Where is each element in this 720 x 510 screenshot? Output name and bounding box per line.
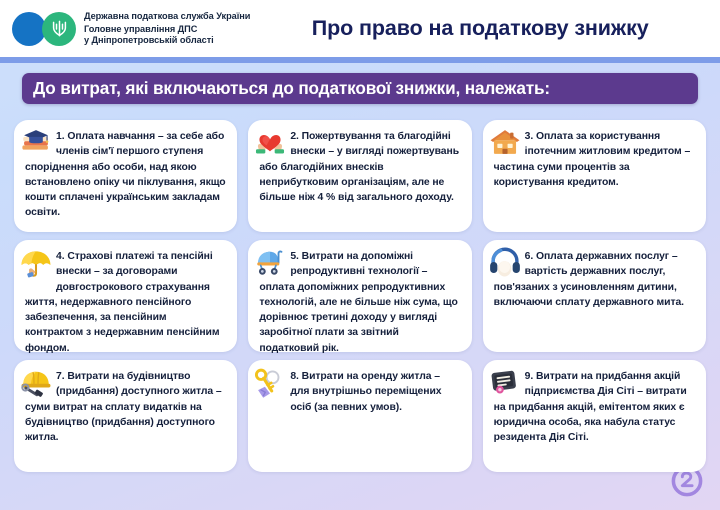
- agency-logo-block: Державна податкова служба України Головн…: [12, 10, 250, 48]
- document-card-icon: [488, 365, 522, 399]
- page-title: Про право на податкову знижку: [250, 16, 706, 41]
- expense-card: 3. Оплата за користування іпотечним житл…: [483, 120, 706, 232]
- expense-card-text: 1. Оплата навчання – за себе або членів …: [25, 129, 226, 221]
- expense-card-text: 2. Пожертвування та благодійні внески – …: [259, 129, 460, 205]
- expense-card-text: 3. Оплата за користування іпотечним житл…: [494, 129, 695, 190]
- expense-card-text: 9. Витрати на придбання акцій підприємст…: [494, 369, 695, 445]
- expense-card: 6. Оплата державних послуг – вартість де…: [483, 240, 706, 352]
- umbrella-icon: [19, 245, 53, 285]
- graduation-cap-books-icon: [19, 125, 53, 159]
- subtitle-text: До витрат, які включаються до податкової…: [33, 79, 688, 97]
- expense-card-text: 8. Витрати на оренду житла – для внутріш…: [259, 369, 460, 415]
- infographic-poster: Державна податкова служба України Головн…: [0, 0, 720, 510]
- expense-card-text: 4. Страхові платежі та пенсійні внески –…: [25, 249, 226, 356]
- logo-circles: [12, 10, 78, 48]
- headset-support-icon: [488, 245, 522, 279]
- hard-hat-tools-icon: [19, 365, 53, 399]
- expense-card-text: 6. Оплата державних послуг – вартість де…: [494, 249, 695, 310]
- expense-card-text: 7. Витрати на будівництво (придбання) до…: [25, 369, 226, 445]
- subtitle-banner: До витрат, які включаються до податкової…: [22, 73, 698, 104]
- logo-circle-blue-icon: [12, 12, 46, 46]
- expense-card: 8. Витрати на оренду житла – для внутріш…: [248, 360, 471, 472]
- expense-card: 7. Витрати на будівництво (придбання) до…: [14, 360, 237, 472]
- agency-name-text: Державна податкова служба України Головн…: [84, 11, 250, 46]
- header-bar: Державна податкова служба України Головн…: [0, 0, 720, 57]
- keys-icon: [253, 365, 287, 405]
- expense-card: 9. Витрати на придбання акцій підприємст…: [483, 360, 706, 472]
- expense-cards-grid: 1. Оплата навчання – за себе або членів …: [14, 120, 706, 472]
- expense-card: 2. Пожертвування та благодійні внески – …: [248, 120, 471, 232]
- baby-stroller-icon: [253, 245, 287, 279]
- expense-card: 1. Оплата навчання – за себе або членів …: [14, 120, 237, 232]
- house-icon: [488, 125, 522, 159]
- expense-card: 4. Страхові платежі та пенсійні внески –…: [14, 240, 237, 352]
- header-divider: [0, 57, 720, 63]
- org-line-1: Державна податкова служба України: [84, 11, 250, 22]
- subtitle-banner-wrap: До витрат, які включаються до податкової…: [22, 73, 698, 104]
- logo-circle-green-icon: [42, 12, 76, 46]
- org-line-2: Головне управління ДПС: [84, 24, 250, 35]
- expense-card: 5. Витрати на допоміжні репродуктивні те…: [248, 240, 471, 352]
- org-line-3: у Дніпропетровській області: [84, 35, 250, 46]
- expense-card-text: 5. Витрати на допоміжні репродуктивні те…: [259, 249, 460, 356]
- heart-in-hands-icon: [253, 125, 287, 159]
